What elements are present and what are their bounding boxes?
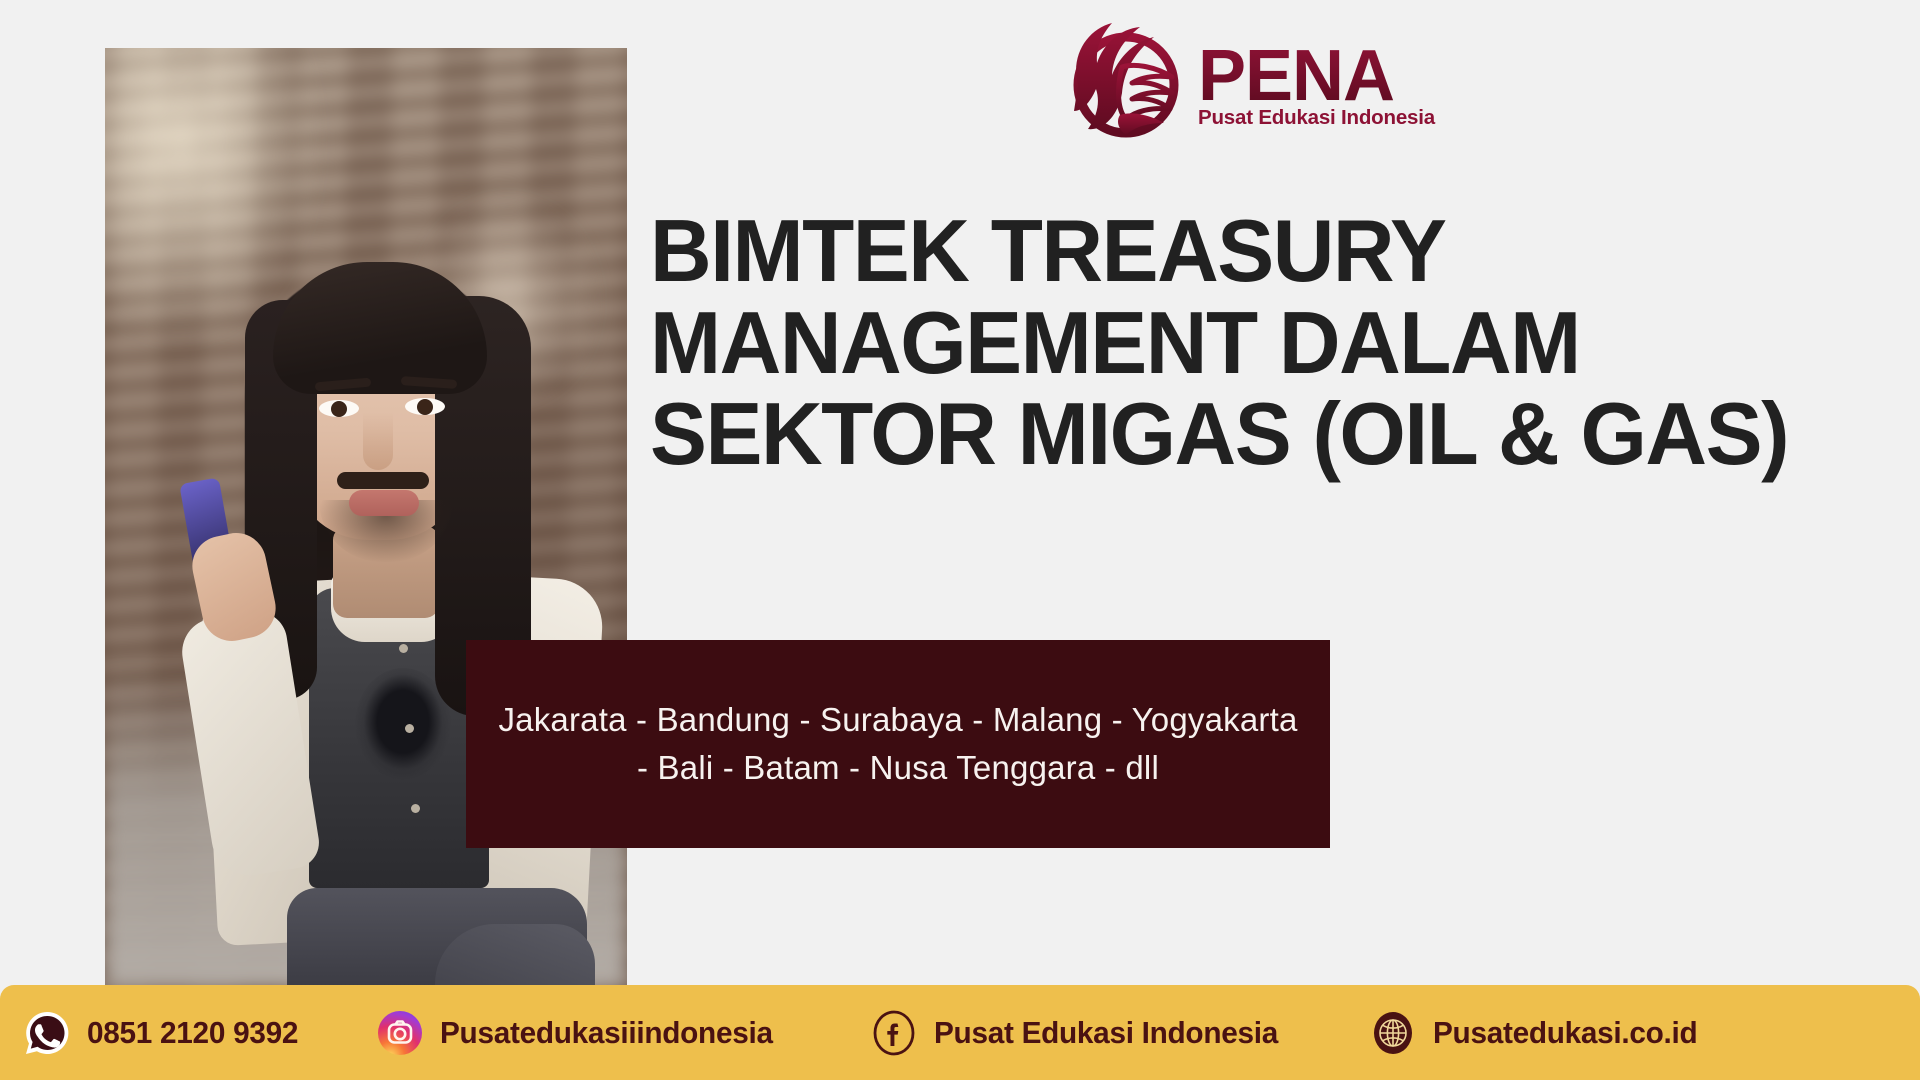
- person-nose: [363, 412, 393, 470]
- brand-name: PENA: [1198, 42, 1435, 110]
- person-moustache: [337, 472, 429, 489]
- contact-item-instagram[interactable]: Pusatedukasiiindonesia: [377, 1010, 787, 1056]
- locations-list: Jakarata - Bandung - Surabaya - Malang -…: [492, 696, 1304, 791]
- brand-tagline: Pusat Edukasi Indonesia: [1198, 106, 1435, 130]
- person-iris-right: [417, 399, 433, 415]
- person-iris-left: [331, 401, 347, 417]
- contact-item-facebook[interactable]: Pusat Edukasi Indonesia: [871, 1010, 1292, 1056]
- globe-icon: [1370, 1010, 1416, 1056]
- whatsapp-icon: [24, 1010, 70, 1056]
- page-title: BIMTEK TREASURY MANAGEMENT DALAM SEKTOR …: [650, 205, 1829, 480]
- contact-item-website[interactable]: Pusatedukasi.co.id: [1370, 1010, 1708, 1056]
- brand-logo: PENA Pusat Edukasi Indonesia: [1060, 18, 1510, 148]
- pena-quill-circle-logo-icon: [1060, 19, 1188, 147]
- facebook-icon: [871, 1010, 917, 1056]
- person-lips: [349, 490, 419, 516]
- jacket-button: [399, 644, 408, 653]
- jacket-button: [405, 724, 414, 733]
- instagram-icon: [377, 1010, 423, 1056]
- contact-bar: 0851 2120 9392 Pusateduk: [0, 985, 1920, 1080]
- locations-banner: Jakarata - Bandung - Surabaya - Malang -…: [466, 640, 1330, 848]
- jacket-button: [411, 804, 420, 813]
- facebook-page: Pusat Edukasi Indonesia: [934, 1015, 1278, 1051]
- contact-item-whatsapp[interactable]: 0851 2120 9392: [24, 1010, 307, 1056]
- brand-wordmark: PENA Pusat Edukasi Indonesia: [1198, 36, 1435, 130]
- whatsapp-number: 0851 2120 9392: [87, 1015, 298, 1051]
- instagram-handle: Pusatedukasiiindonesia: [440, 1015, 773, 1051]
- website-url: Pusatedukasi.co.id: [1433, 1015, 1697, 1051]
